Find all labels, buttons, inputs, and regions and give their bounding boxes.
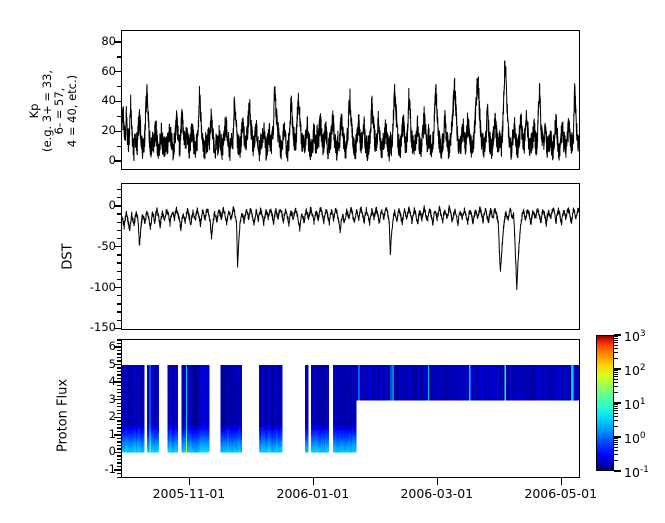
colorbar-tick-minor xyxy=(614,386,618,387)
colorbar-tick-minor xyxy=(614,440,618,441)
colorbar-label-mantissa: 10 xyxy=(624,397,640,412)
colorbar-tick-minor xyxy=(614,447,618,448)
colorbar-tick-minor xyxy=(614,345,618,346)
dst-line-plot xyxy=(122,184,579,329)
colorbar-label-exponent: 2 xyxy=(640,363,646,373)
colorbar xyxy=(596,335,614,471)
x-axis-tick-mark xyxy=(437,478,438,485)
colorbar-label-mantissa: 10 xyxy=(624,363,640,378)
kp-ytick-major xyxy=(114,71,121,72)
dst-ytick-major xyxy=(114,287,121,288)
colorbar-tick-minor xyxy=(614,379,618,380)
kp-ytick-major xyxy=(114,101,121,102)
colorbar-tick-minor xyxy=(614,348,618,349)
dst-ytick-marks xyxy=(113,183,121,330)
colorbar-label-exponent: 3 xyxy=(640,329,646,339)
colorbar-tick-minor xyxy=(614,410,618,411)
colorbar-tick-minor xyxy=(614,372,618,373)
colorbar-tick-minor xyxy=(614,374,618,375)
kp-ytick-labels: 020406080 xyxy=(84,30,116,170)
colorbar-tick-minor xyxy=(614,426,618,427)
kp-ytick-major xyxy=(114,160,121,161)
kp-ytick-major xyxy=(114,131,121,132)
colorbar-tick-minor xyxy=(614,336,618,337)
x-axis-tick-mark xyxy=(561,478,562,485)
colorbar-label-mantissa: 10 xyxy=(624,431,640,446)
x-axis-tick-labels: 2005-11-012006-01-012006-03-012006-05-01 xyxy=(0,487,665,505)
proton-flux-axis-title-label: Proton Flux xyxy=(56,351,71,481)
colorbar-tick-minor xyxy=(614,444,618,445)
flux-ytick-major xyxy=(114,434,121,435)
colorbar-label-mantissa: 10 xyxy=(624,329,640,344)
colorbar-label-exponent: -1 xyxy=(640,465,649,475)
dst-ytick-major xyxy=(114,328,121,329)
colorbar-tick-minor xyxy=(614,460,618,461)
kp-axis-title-line-4: 4 = 40, etc.) xyxy=(66,31,79,191)
flux-ytick-major xyxy=(114,364,121,365)
kp-ytick-major xyxy=(114,41,121,42)
colorbar-tick-label: 103 xyxy=(624,328,646,343)
flux-ytick-major xyxy=(114,346,121,347)
colorbar-tick-minor xyxy=(614,340,618,341)
colorbar-tick-minor xyxy=(614,442,618,443)
colorbar-tick-label: 101 xyxy=(624,396,646,411)
colorbar-tick-label: 102 xyxy=(624,362,646,377)
colorbar-tick-marks xyxy=(614,335,623,471)
proton-flux-axis-title: Proton Flux xyxy=(56,351,71,481)
dst-ytick-major xyxy=(114,246,121,247)
x-axis-tick-label: 2005-11-01 xyxy=(153,487,226,501)
x-axis-tick-label: 2006-05-01 xyxy=(524,487,597,501)
dst-axis-title: DST xyxy=(61,197,76,317)
colorbar-tick-minor xyxy=(614,438,618,439)
colorbar-tick-minor xyxy=(614,406,618,407)
colorbar-tick-labels: 10-1100101102103 xyxy=(624,335,664,471)
kp-axis-title-line-1: Kp xyxy=(28,31,41,191)
colorbar-tick-minor xyxy=(614,370,618,371)
colorbar-tick-label: 10-1 xyxy=(624,464,649,479)
colorbar-tick-minor xyxy=(614,454,618,455)
colorbar-tick-minor xyxy=(614,342,618,343)
colorbar-label-mantissa: 10 xyxy=(624,465,640,480)
x-axis-tick-mark xyxy=(189,478,190,485)
proton-flux-panel xyxy=(121,339,580,478)
colorbar-tick-major xyxy=(614,470,621,471)
kp-axis-title: Kp (e.g. 3+ = 33, 6- = 57, 4 = 40, etc.) xyxy=(28,31,78,191)
colorbar-tick-minor xyxy=(614,352,618,353)
kp-panel xyxy=(121,30,580,170)
flux-ytick-major xyxy=(114,381,121,382)
dst-panel xyxy=(121,183,580,330)
flux-ytick-major xyxy=(114,399,121,400)
colorbar-gradient xyxy=(596,335,614,471)
colorbar-tick-minor xyxy=(614,450,618,451)
x-axis-tick-label: 2006-01-01 xyxy=(277,487,350,501)
colorbar-tick-minor xyxy=(614,420,618,421)
dst-ytick-labels: 0-50-100-150 xyxy=(84,183,116,330)
proton-flux-ytick-labels: -10123456 xyxy=(84,339,116,478)
dst-ytick-major xyxy=(114,205,121,206)
flux-ytick-major xyxy=(114,469,121,470)
colorbar-tick-minor xyxy=(614,404,618,405)
colorbar-label-exponent: 0 xyxy=(640,431,646,441)
colorbar-tick-label: 100 xyxy=(624,430,646,445)
colorbar-tick-minor xyxy=(614,376,618,377)
flux-ytick-major xyxy=(114,417,121,418)
kp-line-plot xyxy=(122,31,579,169)
colorbar-tick-minor xyxy=(614,416,618,417)
x-axis-tick-label: 2006-03-01 xyxy=(400,487,473,501)
kp-axis-title-line-3: 6- = 57, xyxy=(53,31,66,191)
figure-canvas: Kp (e.g. 3+ = 33, 6- = 57, 4 = 40, etc.)… xyxy=(0,0,665,523)
colorbar-tick-minor xyxy=(614,408,618,409)
flux-ytick-major xyxy=(114,452,121,453)
colorbar-tick-minor xyxy=(614,338,618,339)
kp-ytick-marks xyxy=(113,30,121,170)
colorbar-tick-minor xyxy=(614,358,618,359)
colorbar-tick-minor xyxy=(614,382,618,383)
colorbar-tick-minor xyxy=(614,392,618,393)
dst-axis-title-label: DST xyxy=(61,197,76,317)
x-axis-tick-mark xyxy=(313,478,314,485)
colorbar-tick-minor xyxy=(614,413,618,414)
colorbar-label-exponent: 1 xyxy=(640,397,646,407)
proton-flux-ytick-marks xyxy=(113,339,121,478)
proton-flux-heatmap xyxy=(122,340,579,477)
